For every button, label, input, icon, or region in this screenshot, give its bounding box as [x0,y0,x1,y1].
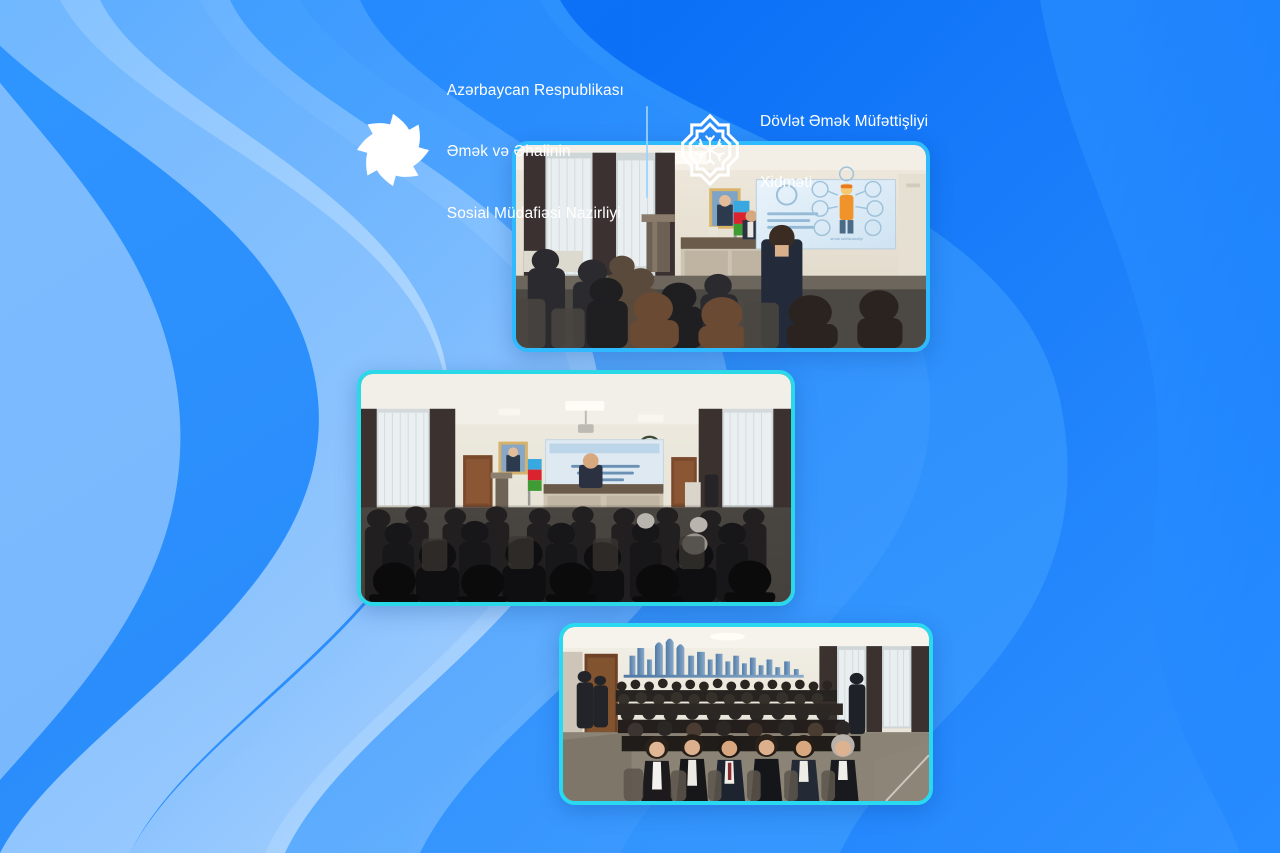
service-name: Dövlət Əmək Müfəttişliyi Xidməti [760,71,928,235]
seated-audience-photo[interactable] [559,623,933,805]
ministry-name-line-2: Əmək və Əhalinin [447,142,624,162]
ministry-name: Azərbaycan Respublikası Əmək və Əhalinin… [447,40,624,265]
stepped-diamond-ornament-icon [672,112,748,193]
ministry-name-line-1: Azərbaycan Respublikası [447,81,624,101]
service-name-line-2: Xidməti [760,173,928,193]
photo-3-image [563,627,929,801]
ministry-brand: Azərbaycan Respublikası Əmək və Əhalinin… [352,40,624,265]
header-divider [646,106,648,198]
service-brand: Dövlət Əmək Müfəttişliyi Xidməti [672,71,928,235]
header-logos: Azərbaycan Respublikası Əmək və Əhalinin… [0,40,1280,265]
service-name-line-1: Dövlət Əmək Müfəttişliyi [760,112,928,132]
photo-2-image [361,374,791,602]
eight-point-star-pinwheel-icon [352,109,434,196]
conference-hall-audience-photo[interactable] [357,370,795,606]
ministry-name-line-3: Sosial Müdafiəsi Nazirliyi [447,204,624,224]
